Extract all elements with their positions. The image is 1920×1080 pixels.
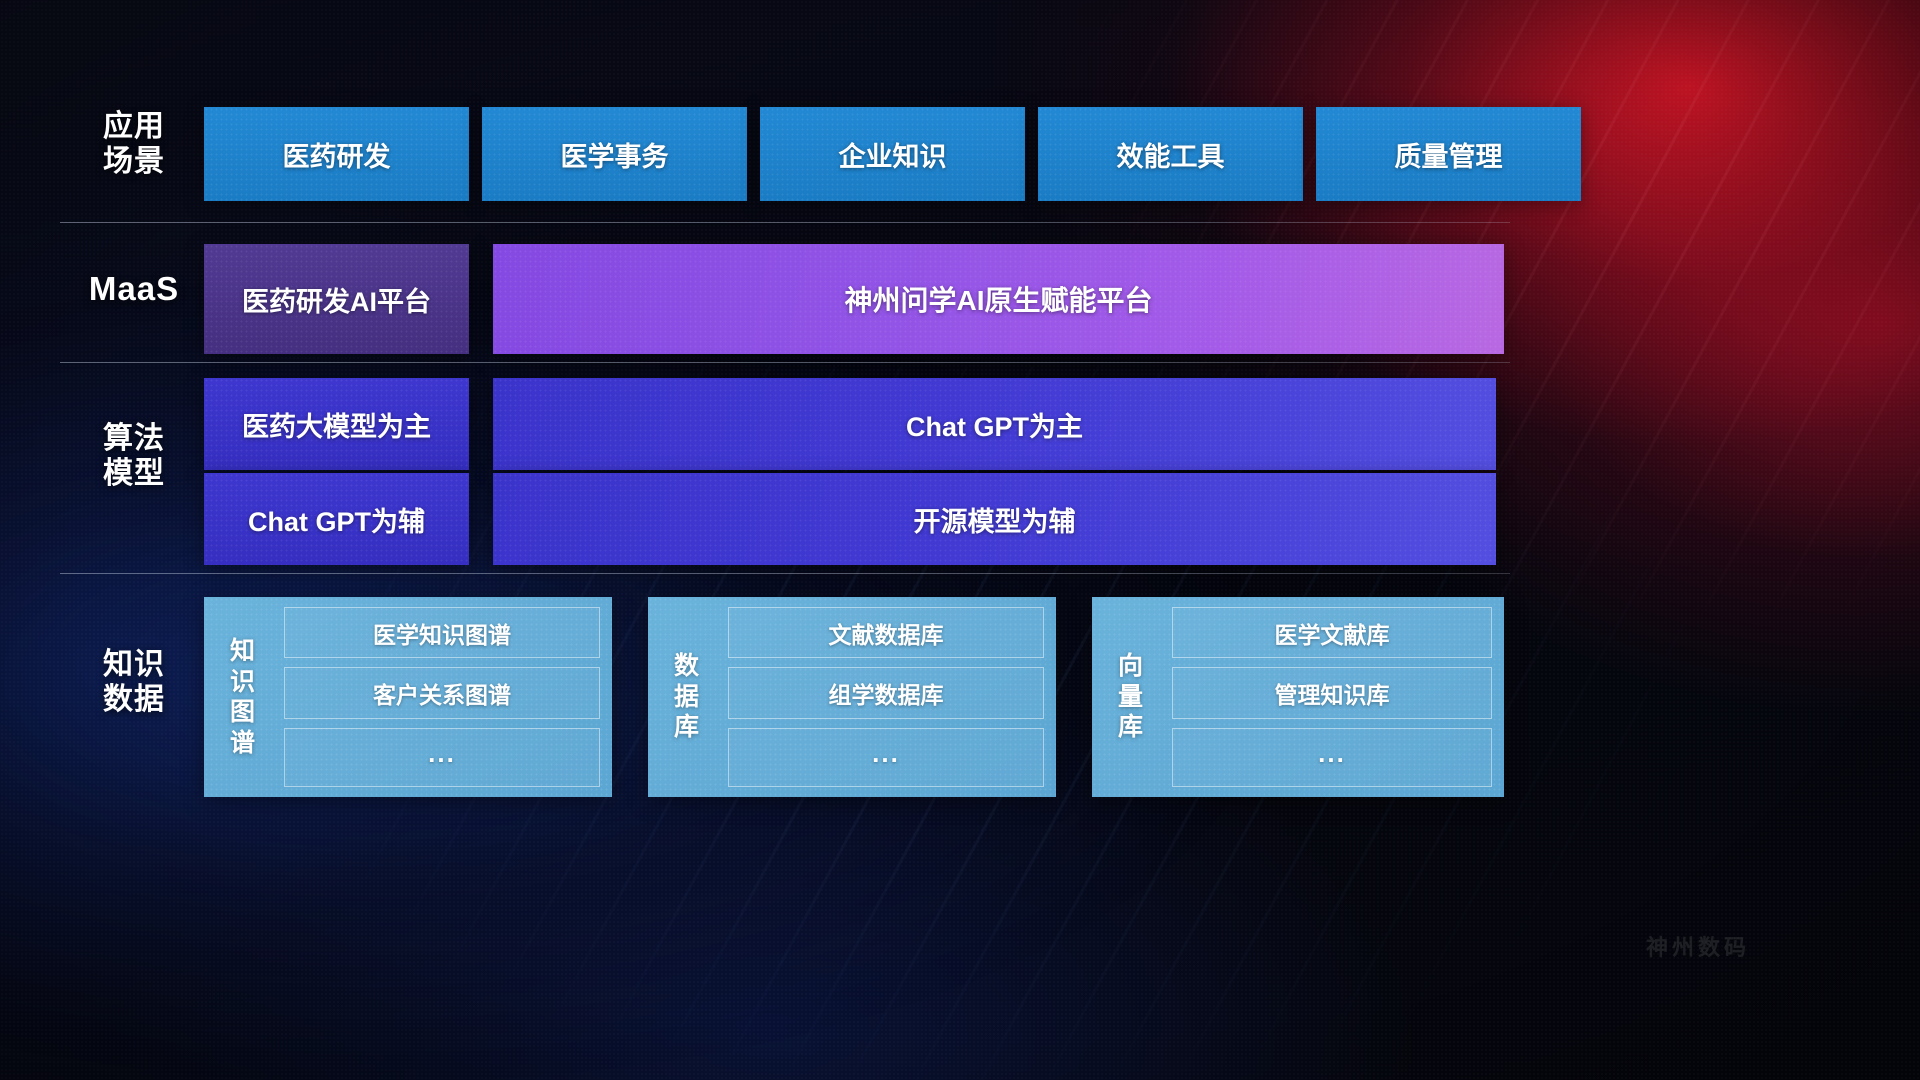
knowledge-card-graph-title-c3: 谱 xyxy=(230,728,256,759)
knowledge-card-database-title: 数 据 库 xyxy=(658,607,716,787)
row-label-maas: MaaS xyxy=(60,270,208,308)
knowledge-item-graph-more-label: ... xyxy=(428,738,456,769)
slide-canvas: 应用 场景 医药研发 医学事务 企业知识 效能工具 质量管理 MaaS 医药研发… xyxy=(0,0,1920,1080)
knowledge-card-database-items: 文献数据库 组学数据库 ... xyxy=(728,607,1044,787)
knowledge-item-medical-literature[interactable]: 医学文献库 xyxy=(1172,607,1492,658)
knowledge-card-graph[interactable]: 知 识 图 谱 医学知识图谱 客户关系图谱 ... xyxy=(204,597,612,797)
row-label-algorithm: 算法 模型 xyxy=(60,422,208,492)
knowledge-card-vector-title: 向 量 库 xyxy=(1102,607,1160,787)
knowledge-card-graph-items: 医学知识图谱 客户关系图谱 ... xyxy=(284,607,600,787)
maas-card-shenzhou-platform-label: 神州问学AI原生赋能平台 xyxy=(844,279,1152,319)
maas-card-pharma-platform-label: 医药研发AI平台 xyxy=(242,280,431,319)
knowledge-card-graph-title-c1: 识 xyxy=(230,667,256,698)
knowledge-item-customer-kg[interactable]: 客户关系图谱 xyxy=(284,667,600,718)
knowledge-card-vector[interactable]: 向 量 库 医学文献库 管理知识库 ... xyxy=(1092,597,1504,797)
maas-card-shenzhou-platform[interactable]: 神州问学AI原生赋能平台 xyxy=(493,244,1504,354)
scenario-card-0-label: 医药研发 xyxy=(283,135,391,174)
knowledge-card-database-title-c0: 数 xyxy=(674,651,700,682)
algorithm-card-row0-left-label: 医药大模型为主 xyxy=(242,405,431,444)
algorithm-card-row1-right[interactable]: 开源模型为辅 xyxy=(493,473,1496,565)
knowledge-item-literature-db-label: 文献数据库 xyxy=(829,616,944,650)
knowledge-item-database-more-label: ... xyxy=(872,738,900,769)
knowledge-card-database[interactable]: 数 据 库 文献数据库 组学数据库 ... xyxy=(648,597,1056,797)
row-label-scenarios: 应用 场景 xyxy=(60,110,208,180)
scenario-card-1-label: 医学事务 xyxy=(561,135,669,174)
scenario-card-2[interactable]: 企业知识 xyxy=(760,107,1025,201)
maas-card-pharma-platform[interactable]: 医药研发AI平台 xyxy=(204,244,469,354)
row-label-knowledge-line1: 知识 xyxy=(60,648,208,683)
scenario-card-1[interactable]: 医学事务 xyxy=(482,107,747,201)
scenario-card-3-label: 效能工具 xyxy=(1117,135,1225,174)
knowledge-card-vector-items: 医学文献库 管理知识库 ... xyxy=(1172,607,1492,787)
scenario-card-2-label: 企业知识 xyxy=(839,135,947,174)
algorithm-card-row0-right-label: Chat GPT为主 xyxy=(906,405,1083,444)
knowledge-item-customer-kg-label: 客户关系图谱 xyxy=(373,676,511,710)
knowledge-card-graph-title: 知 识 图 谱 xyxy=(214,607,272,787)
row-label-knowledge: 知识 数据 xyxy=(60,648,208,718)
knowledge-item-medical-literature-label: 医学文献库 xyxy=(1275,616,1390,650)
row-label-maas-text: MaaS xyxy=(60,270,208,308)
divider-scenarios-maas xyxy=(60,222,1510,223)
knowledge-item-management-knowledge-label: 管理知识库 xyxy=(1275,676,1390,710)
knowledge-item-database-more[interactable]: ... xyxy=(728,728,1044,787)
knowledge-item-medical-kg-label: 医学知识图谱 xyxy=(373,616,511,650)
knowledge-card-database-title-c1: 据 xyxy=(674,682,700,713)
algorithm-card-row1-right-label: 开源模型为辅 xyxy=(914,500,1076,539)
row-label-scenarios-line1: 应用 xyxy=(60,110,208,145)
knowledge-card-vector-title-c1: 量 xyxy=(1118,682,1144,713)
knowledge-item-literature-db[interactable]: 文献数据库 xyxy=(728,607,1044,658)
knowledge-card-graph-title-c2: 图 xyxy=(230,697,256,728)
row-label-scenarios-line2: 场景 xyxy=(60,145,208,180)
knowledge-item-management-knowledge[interactable]: 管理知识库 xyxy=(1172,667,1492,718)
knowledge-item-medical-kg[interactable]: 医学知识图谱 xyxy=(284,607,600,658)
divider-algorithm-knowledge xyxy=(60,573,1510,574)
scenario-card-3[interactable]: 效能工具 xyxy=(1038,107,1303,201)
knowledge-item-omics-db[interactable]: 组学数据库 xyxy=(728,667,1044,718)
knowledge-card-vector-title-c0: 向 xyxy=(1118,651,1144,682)
knowledge-item-graph-more[interactable]: ... xyxy=(284,728,600,787)
row-label-knowledge-line2: 数据 xyxy=(60,683,208,718)
divider-maas-algorithm xyxy=(60,362,1510,363)
knowledge-item-vector-more[interactable]: ... xyxy=(1172,728,1492,787)
knowledge-card-vector-title-c2: 库 xyxy=(1118,712,1144,743)
scenario-card-4-label: 质量管理 xyxy=(1395,135,1503,174)
scenario-card-4[interactable]: 质量管理 xyxy=(1316,107,1581,201)
scenario-card-0[interactable]: 医药研发 xyxy=(204,107,469,201)
knowledge-item-vector-more-label: ... xyxy=(1318,738,1346,769)
knowledge-card-graph-title-c0: 知 xyxy=(230,636,256,667)
watermark: 神州数码 xyxy=(1646,930,1750,962)
algorithm-card-row1-left-label: Chat GPT为辅 xyxy=(248,500,425,539)
knowledge-card-database-title-c2: 库 xyxy=(674,712,700,743)
knowledge-item-omics-db-label: 组学数据库 xyxy=(829,676,944,710)
algorithm-card-row1-left[interactable]: Chat GPT为辅 xyxy=(204,473,469,565)
architecture-diagram: 应用 场景 医药研发 医学事务 企业知识 效能工具 质量管理 MaaS 医药研发… xyxy=(0,0,1920,1080)
algorithm-card-row0-right[interactable]: Chat GPT为主 xyxy=(493,378,1496,470)
row-label-algorithm-line2: 模型 xyxy=(60,457,208,492)
row-label-algorithm-line1: 算法 xyxy=(60,422,208,457)
algorithm-card-row0-left[interactable]: 医药大模型为主 xyxy=(204,378,469,470)
